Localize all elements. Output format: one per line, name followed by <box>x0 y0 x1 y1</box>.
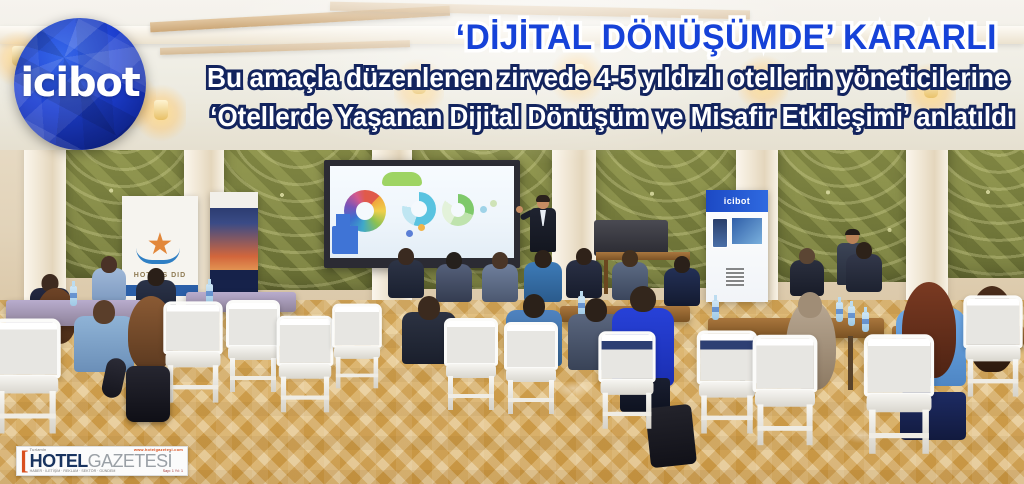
watermark-name-bold: HOTEL <box>30 452 88 470</box>
watermark-name: HOTEL GAZETESİ <box>30 452 183 470</box>
news-photo-card: ★ HOTELS DID icibot <box>0 0 1024 484</box>
slide-shape <box>382 172 422 186</box>
slide-donut-chart <box>442 194 474 226</box>
attendee-head <box>622 250 638 267</box>
headline-line-2: Bu amaçla düzenlenen zirvede 4-5 yıldızl… <box>67 64 1018 92</box>
table-leg <box>604 260 608 294</box>
attendee-body <box>566 260 602 298</box>
attendee-head <box>492 252 508 269</box>
banquet-chair <box>697 330 757 433</box>
presenter-hair <box>536 195 550 202</box>
attendee-body <box>92 268 126 302</box>
banquet-chair <box>277 316 334 413</box>
attendee-head <box>674 256 690 273</box>
watermark-bottom-row: HABER · İLETİŞİM · REKLAM · SEKTÖR · GÜN… <box>30 470 183 474</box>
attendee <box>436 252 472 302</box>
attendee <box>790 248 824 296</box>
slide-shape <box>480 206 487 213</box>
hotelgazetesi-watermark: [ Turizmin www.hotelgazetesi.com HOTEL G… <box>16 446 188 476</box>
banner-image <box>732 218 762 244</box>
slide-shape <box>406 230 413 237</box>
headline-block: ‘DİJİTAL DÖNÜŞÜMDE’ KARARLI Bu amaçla dü… <box>0 0 1024 131</box>
bracket-icon: [ <box>20 448 29 474</box>
attendee-head <box>101 256 117 273</box>
attendee-head <box>93 300 115 324</box>
watermark-footer-right: Sayı: 1 Yıl: 1 <box>163 470 183 474</box>
qr-code-icon <box>726 268 744 286</box>
attendee-head <box>856 242 872 259</box>
logo-wordmark: icibot <box>14 60 146 106</box>
attendee-head <box>523 294 545 318</box>
attendee-hair <box>845 229 860 235</box>
banquet-chair <box>163 301 222 402</box>
attendee-body <box>388 260 424 298</box>
banquet-chair <box>598 331 655 429</box>
headline-line-3: ‘Otellerde Yaşanan Dijital Dönüşüm ve Mi… <box>62 103 1018 131</box>
watermark-name-light: GAZETESİ <box>88 452 172 470</box>
attendee <box>74 300 134 370</box>
slide-shape <box>332 226 358 254</box>
banner-title: icibot <box>706 190 768 212</box>
attendee-head <box>585 298 607 322</box>
attendee <box>846 242 882 292</box>
banquet-chair <box>226 300 280 392</box>
phone-mockup <box>712 218 728 248</box>
attendee-body <box>846 254 882 292</box>
banquet-chair <box>753 335 818 445</box>
water-bottle <box>862 312 869 332</box>
banner-icibot: icibot <box>706 190 768 302</box>
headline-line-1: ‘DİJİTAL DÖNÜŞÜMDE’ KARARLI <box>46 20 1018 55</box>
water-bottle <box>712 300 719 320</box>
attendee-head <box>630 286 656 312</box>
attendee-head <box>398 248 414 265</box>
water-bottle <box>848 306 855 326</box>
attendee-head <box>446 252 462 269</box>
presentation-slide <box>330 166 514 258</box>
attendee-head <box>798 292 822 318</box>
attendee-head <box>799 248 815 264</box>
presenter-hand <box>516 206 523 213</box>
attendee <box>388 248 424 298</box>
attendee-head <box>535 250 552 268</box>
banquet-chair <box>0 319 61 434</box>
watermark-text-block: Turizmin www.hotelgazetesi.com HOTEL GAZ… <box>30 448 183 474</box>
slide-donut-chart <box>402 192 436 226</box>
banquet-chair <box>444 318 498 410</box>
table-leg <box>848 336 853 390</box>
slide-shape <box>336 214 350 230</box>
banquet-chair <box>864 334 934 454</box>
slide-shape <box>490 200 497 207</box>
banquet-chair <box>332 304 382 389</box>
watermark-footer-left: HABER · İLETİŞİM · REKLAM · SEKTÖR · GÜN… <box>30 470 116 474</box>
icibot-logo: icibot <box>14 18 146 150</box>
slide-shape <box>418 224 425 231</box>
attendee <box>566 248 602 298</box>
banquet-chair <box>504 322 558 414</box>
attendee-head <box>148 268 165 286</box>
attendee <box>92 256 126 302</box>
poster-header <box>210 192 258 208</box>
attendee-head <box>418 296 440 320</box>
attendee-body <box>790 260 824 296</box>
banquet-chair <box>963 295 1022 396</box>
attendee-head <box>576 248 592 265</box>
backpack <box>126 366 170 422</box>
swoosh-icon <box>136 248 180 264</box>
banner-travel-poster <box>210 192 258 296</box>
